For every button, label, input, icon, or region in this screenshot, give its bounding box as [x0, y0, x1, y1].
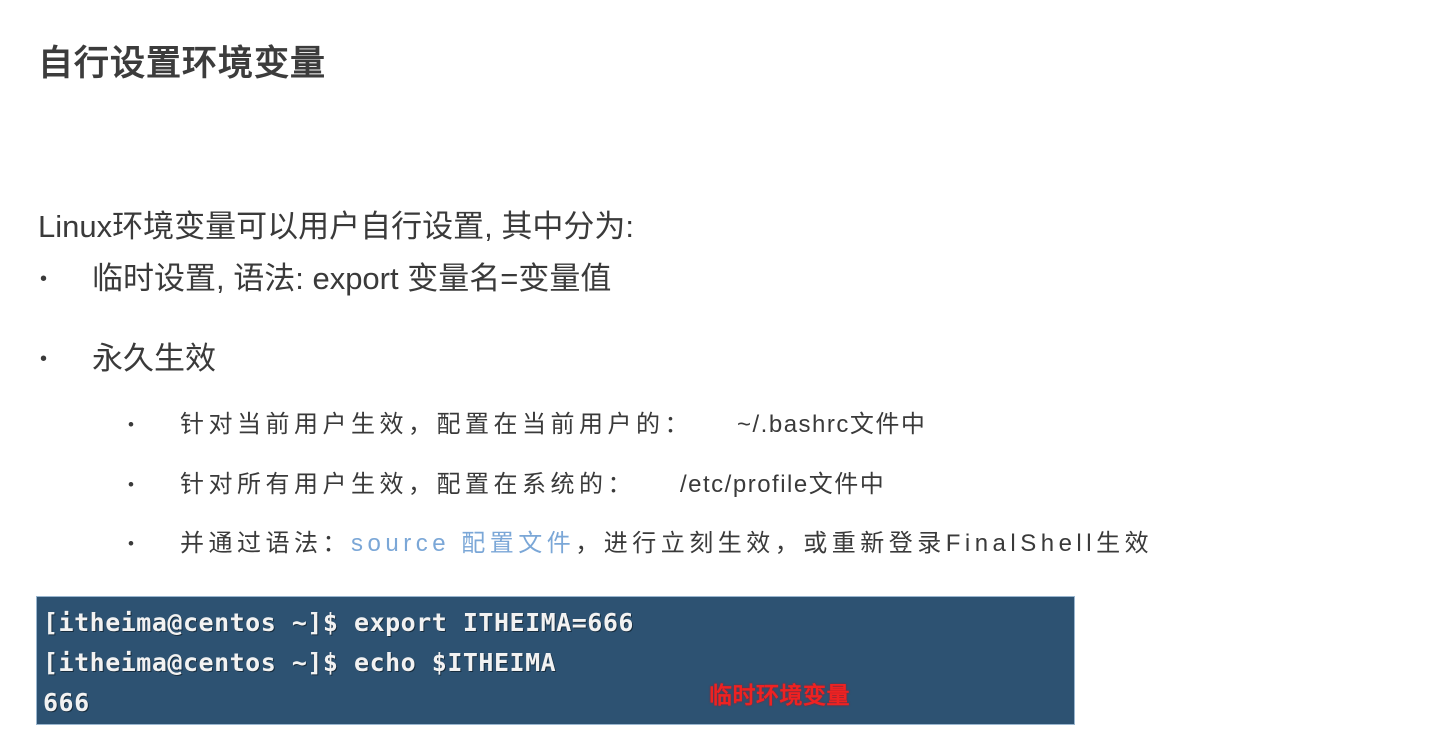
bullet-permanent-effect-label: 永久生效 [92, 338, 216, 380]
terminal-line: 666 [43, 683, 1074, 723]
bullet-marker-icon: • [36, 338, 92, 380]
intro-paragraph: Linux环境变量可以用户自行设置, 其中分为: [38, 206, 634, 248]
sub-bullet-current-user-text: 针对当前用户生效，配置在当前用户的：~/.bashrc文件中 [180, 408, 926, 442]
bullet-temporary-setting: • 临时设置, 语法: export 变量名=变量值 [36, 258, 611, 300]
sub-bullet-all-users-text: 针对所有用户生效，配置在系统的：/etc/profile文件中 [180, 468, 885, 502]
sub-bullet-source-command-text: 并通过语法：source 配置文件，进行立刻生效，或重新登录FinalShell… [180, 527, 1153, 561]
bullet-marker-icon: • [36, 258, 92, 300]
profile-path-label: /etc/profile文件中 [680, 471, 885, 498]
slide-canvas: 自行设置环境变量 Linux环境变量可以用户自行设置, 其中分为: • 临时设置… [0, 0, 1429, 746]
sub-bullet-current-user: • 针对当前用户生效，配置在当前用户的：~/.bashrc文件中 [128, 408, 926, 442]
bashrc-path-label: ~/.bashrc文件中 [737, 411, 926, 438]
sub-bullet-source-command: • 并通过语法：source 配置文件，进行立刻生效，或重新登录FinalShe… [128, 527, 1153, 561]
sub-bullet-marker-icon: • [128, 468, 180, 502]
sub-bullet-current-user-prefix: 针对当前用户生效，配置在当前用户的： [180, 411, 693, 438]
bullet-temporary-setting-label: 临时设置, 语法: export 变量名=变量值 [92, 258, 611, 300]
sub-bullet-source-prefix: 并通过语法： [180, 530, 351, 557]
sub-bullet-all-users: • 针对所有用户生效，配置在系统的：/etc/profile文件中 [128, 468, 885, 502]
source-command-highlight: source 配置文件 [351, 530, 575, 557]
sub-bullet-source-suffix: ，进行立刻生效，或重新登录FinalShell生效 [575, 530, 1153, 557]
sub-bullet-all-users-prefix: 针对所有用户生效，配置在系统的： [180, 471, 636, 498]
sub-bullet-marker-icon: • [128, 527, 180, 561]
terminal-line: [itheima@centos ~]$ echo $ITHEIMA [43, 643, 1074, 683]
terminal-window: [itheima@centos ~]$ export ITHEIMA=666 [… [36, 596, 1075, 725]
page-title: 自行设置环境变量 [38, 41, 326, 87]
bullet-permanent-effect: • 永久生效 [36, 338, 216, 380]
sub-bullet-marker-icon: • [128, 408, 180, 442]
terminal-line: [itheima@centos ~]$ export ITHEIMA=666 [43, 603, 1074, 643]
terminal-annotation-label: 临时环境变量 [709, 676, 850, 710]
